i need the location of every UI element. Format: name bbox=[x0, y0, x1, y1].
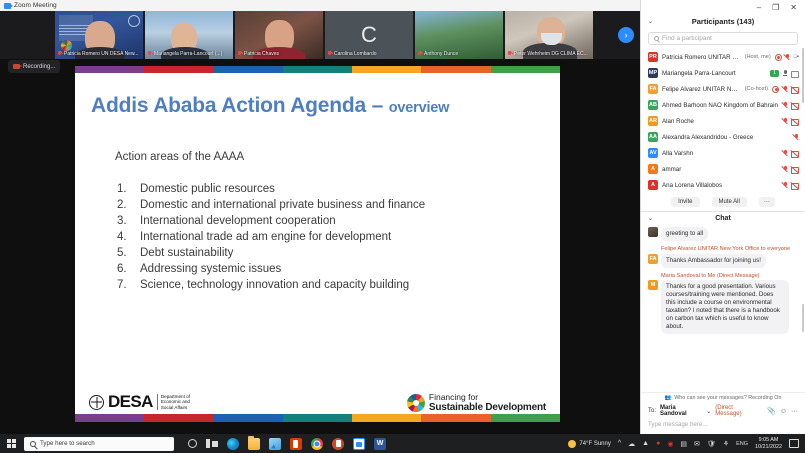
more-icon[interactable]: □▪ bbox=[794, 54, 799, 60]
participant-tag: (Co-host) bbox=[745, 86, 768, 92]
people-icon: 👥 bbox=[665, 395, 672, 401]
system-tray: 74°F Sunny ^ ☁ ▲ ● ◉ ▤ ✉ 🛡 ⚘ ENG 9:05 AM… bbox=[568, 437, 805, 450]
chevron-up-icon[interactable]: ^ bbox=[618, 440, 621, 447]
slide-title: Addis Ababa Action Agenda – overview bbox=[91, 94, 449, 118]
list-item-number: 1. bbox=[117, 181, 129, 197]
participant-name: Felipe Alvarez UNITAR New Y... bbox=[662, 86, 741, 93]
mic-muted-icon bbox=[237, 51, 242, 58]
chat-privacy-note: 👥 Who can see your messages? Recording O… bbox=[641, 392, 805, 403]
antivirus-icon[interactable]: ◉ bbox=[667, 440, 673, 448]
sun-icon bbox=[568, 440, 576, 448]
participant-icons[interactable] bbox=[782, 102, 799, 109]
word-icon[interactable]: W bbox=[374, 438, 386, 450]
camera-off-icon[interactable] bbox=[791, 182, 799, 188]
video-tile-namebar: Carolina Lombardo bbox=[325, 51, 413, 59]
task-view-icon[interactable] bbox=[206, 438, 218, 450]
financing-sustainable-development-logo: Financing for Sustainable Development bbox=[407, 393, 546, 412]
video-tile[interactable]: Patricia Romero UN DESA New... bbox=[55, 11, 143, 59]
avatar bbox=[648, 227, 658, 237]
chat-message: Maria Sandoval to Me (Direct Message) M … bbox=[648, 273, 798, 335]
participant-row[interactable]: MP Mariangela Parra-Lancourt 1 bbox=[641, 65, 805, 81]
avatar: M bbox=[648, 280, 658, 290]
participant-row[interactable]: PR Patricia Romero UNITAR Ne... (Host, m… bbox=[641, 49, 805, 65]
file-explorer-icon[interactable] bbox=[248, 438, 260, 450]
onedrive-icon[interactable]: ☁ bbox=[628, 440, 635, 448]
cortana-icon[interactable] bbox=[188, 439, 197, 448]
participant-name: Alexandra Alexandridou - Greece bbox=[662, 134, 789, 141]
avatar: AR bbox=[648, 116, 658, 126]
chat-message-text: greeting to all bbox=[661, 227, 708, 241]
powerpoint-icon[interactable] bbox=[332, 438, 344, 450]
list-item-number: 7. bbox=[117, 277, 129, 293]
slide-subtitle: Action areas of the AAAA bbox=[115, 151, 244, 163]
chat-messages[interactable]: greeting to all Felipe Alvarez UNITAR Ne… bbox=[641, 225, 805, 392]
mic-muted-icon bbox=[57, 51, 62, 58]
chevron-down-icon[interactable]: ⌄ bbox=[648, 215, 653, 222]
office-icon[interactable] bbox=[290, 438, 302, 450]
mic-off-icon[interactable] bbox=[785, 54, 791, 61]
more-options-button[interactable]: ··· bbox=[759, 197, 775, 207]
chevron-down-icon[interactable]: ⌄ bbox=[648, 18, 653, 25]
zoom-meeting-window: Zoom Meeting Patricia Romero UN DESA New… bbox=[0, 0, 640, 434]
list-item-number: 3. bbox=[117, 213, 129, 229]
recording-status-icon bbox=[775, 54, 782, 61]
video-tile-namebar: Patricia Chaves bbox=[235, 51, 323, 59]
video-tile[interactable]: Patricia Chaves bbox=[235, 11, 323, 59]
chat-message-text: Thanks Ambassador for joining us! bbox=[661, 254, 766, 268]
chat-message-line: FA Thanks Ambassador for joining us! bbox=[648, 254, 798, 268]
windows-taskbar: Type here to search W 74°F Sunny ^ ☁ ▲ ●… bbox=[0, 434, 805, 453]
participant-icons[interactable] bbox=[782, 150, 799, 157]
list-item-number: 2. bbox=[117, 197, 129, 213]
screen: Zoom Meeting Patricia Romero UN DESA New… bbox=[0, 0, 805, 453]
avatar: A bbox=[648, 164, 658, 174]
participant-name: Ana Lorena Villalobos bbox=[662, 182, 778, 189]
list-item-text: International trade ad am engine for dev… bbox=[140, 229, 391, 245]
camera-off-icon[interactable] bbox=[791, 118, 799, 124]
list-item: 7. Science, technology innovation and ca… bbox=[117, 277, 537, 293]
start-button[interactable] bbox=[0, 434, 22, 453]
video-tile-name: Mariangela Parra-Lancourt (...) bbox=[154, 51, 222, 58]
shield-icon[interactable]: 🛡 bbox=[707, 440, 716, 448]
zoom-window-title: Zoom Meeting bbox=[14, 2, 57, 9]
slide-top-color-bar bbox=[75, 66, 560, 73]
maximize-button[interactable]: ❐ bbox=[772, 3, 779, 12]
chrome-icon[interactable] bbox=[311, 438, 323, 450]
recording-status-icon bbox=[772, 86, 779, 93]
list-item-number: 6. bbox=[117, 261, 129, 277]
mic-muted-icon bbox=[327, 51, 332, 58]
chat-to-label: To: bbox=[648, 408, 656, 414]
avatar: MP bbox=[648, 68, 658, 78]
mic-on-icon[interactable] bbox=[782, 70, 788, 77]
mic-off-icon[interactable] bbox=[782, 118, 788, 125]
camera-off-icon[interactable] bbox=[791, 166, 799, 172]
list-item: 6. Addressing systemic issues bbox=[117, 261, 537, 277]
video-tile-namebar: Anthony Dunce bbox=[415, 51, 503, 59]
participant-icons[interactable] bbox=[782, 182, 799, 189]
file-attach-icon[interactable]: 📎 bbox=[767, 407, 776, 415]
list-item-text: Domestic public resources bbox=[140, 181, 275, 197]
list-item: 2. Domestic and international private bu… bbox=[117, 197, 537, 213]
participant-search-wrap: Find a participant bbox=[641, 29, 805, 49]
video-tile-name: Carolina Lombardo bbox=[334, 51, 377, 58]
clock-date: 10/21/2022 bbox=[755, 444, 782, 451]
mic-off-icon[interactable] bbox=[793, 134, 799, 141]
video-tile-namebar: Patricia Romero UN DESA New... bbox=[55, 51, 143, 59]
participants-chat-panel: – ❐ ✕ ⌄ Participants (143) Find a partic… bbox=[640, 0, 805, 434]
camera-off-icon[interactable] bbox=[791, 86, 799, 92]
list-item-text: International development cooperation bbox=[140, 213, 336, 229]
chat-message-meta: Maria Sandoval to Me (Direct Message) bbox=[661, 273, 798, 279]
minimize-button[interactable]: – bbox=[757, 3, 761, 12]
list-item-text: Addressing systemic issues bbox=[140, 261, 281, 277]
sdg-color-wheel-icon bbox=[407, 394, 425, 412]
participant-tag: (Host, me) bbox=[745, 54, 771, 60]
camera-icon[interactable] bbox=[791, 70, 799, 76]
chat-recipient-row: To: Maria Sandoval ⌄ (Direct Message) 📎 … bbox=[641, 403, 805, 419]
sdg-wheel-icon bbox=[61, 40, 72, 51]
zoom-titlebar: Zoom Meeting bbox=[0, 0, 640, 11]
video-tile-namebar: Mariangela Parra-Lancourt (...) bbox=[145, 51, 233, 59]
camera-off-icon[interactable] bbox=[791, 150, 799, 156]
printer-icon[interactable]: ▤ bbox=[680, 440, 687, 448]
taskbar-search-placeholder: Type here to search bbox=[40, 440, 95, 447]
participant-row[interactable]: FA Felipe Alvarez UNITAR New Y... (Co-ho… bbox=[641, 81, 805, 97]
list-item: 5. Debt sustainability bbox=[117, 245, 537, 261]
chat-scrollbar[interactable] bbox=[802, 304, 805, 332]
avatar: AB bbox=[648, 100, 658, 110]
taskbar-clock[interactable]: 9:05 AM 10/21/2022 bbox=[755, 437, 782, 450]
participant-name: Patricia Romero UNITAR Ne... bbox=[662, 54, 741, 61]
avatar: PR bbox=[648, 52, 658, 62]
recording-icon bbox=[13, 64, 20, 69]
desa-logo: DESA Department of Economic and Social A… bbox=[89, 392, 190, 412]
chat-message: Felipe Alvarez UNITAR New York Office to… bbox=[648, 246, 798, 268]
zoom-icon[interactable] bbox=[353, 438, 365, 450]
participants-list[interactable]: PR Patricia Romero UNITAR Ne... (Host, m… bbox=[641, 49, 805, 193]
participant-search-input[interactable]: Find a participant bbox=[648, 32, 798, 45]
search-placeholder: Find a participant bbox=[662, 35, 712, 42]
participants-actions: Invite Mute All ··· bbox=[641, 195, 805, 209]
participant-row[interactable]: AA Alexandra Alexandridou - Greece bbox=[641, 129, 805, 145]
slide-title-main: Addis Ababa Action Agenda – bbox=[91, 94, 389, 117]
chat-title: Chat bbox=[715, 215, 731, 222]
mic-muted-icon bbox=[507, 51, 512, 58]
photos-icon[interactable] bbox=[269, 438, 281, 450]
list-item-number: 5. bbox=[117, 245, 129, 261]
slide-action-areas-list: 1. Domestic public resources 2. Domestic… bbox=[117, 181, 537, 293]
list-item: 4. International trade ad am engine for … bbox=[117, 229, 537, 245]
participants-header: ⌄ Participants (143) bbox=[641, 14, 805, 29]
chat-privacy-text: Who can see your messages? Recording On bbox=[674, 395, 781, 401]
zoom-app-icon bbox=[4, 3, 11, 9]
desa-dept-line3: Social Affairs bbox=[161, 405, 187, 410]
participant-icons[interactable] bbox=[782, 118, 799, 125]
slide-title-sub: overview bbox=[389, 100, 449, 116]
mic-muted-icon bbox=[417, 51, 422, 58]
chat-input-placeholder: Type message here... bbox=[648, 421, 708, 428]
search-icon bbox=[654, 36, 659, 41]
video-tile-name: Patricia Romero UN DESA New... bbox=[64, 51, 138, 58]
chat-message-input[interactable]: Type message here... bbox=[641, 419, 805, 434]
participant-icons[interactable] bbox=[772, 86, 799, 93]
avatar: FA bbox=[648, 84, 658, 94]
desa-wordmark: DESA bbox=[108, 392, 153, 412]
participant-row[interactable]: A ammar bbox=[641, 161, 805, 177]
mic-off-icon[interactable] bbox=[782, 150, 788, 157]
video-tile[interactable]: C Carolina Lombardo bbox=[325, 11, 413, 59]
video-tile[interactable]: Anthony Dunce bbox=[415, 11, 503, 59]
clock-time: 9:05 AM bbox=[755, 437, 782, 444]
participant-icons[interactable]: □▪ bbox=[775, 54, 799, 61]
video-tile-name: Anthony Dunce bbox=[424, 51, 458, 58]
chat-recipient-select[interactable]: Maria Sandoval bbox=[660, 405, 702, 417]
video-tile[interactable]: Mariangela Parra-Lancourt (...) bbox=[145, 11, 233, 59]
mic-muted-icon bbox=[147, 51, 152, 58]
window-controls: – ❐ ✕ bbox=[641, 0, 805, 14]
notifications-icon[interactable] bbox=[789, 439, 799, 448]
participant-icons[interactable] bbox=[782, 166, 799, 173]
chat-header: ⌄ Chat bbox=[641, 211, 805, 225]
invite-button[interactable]: Invite bbox=[671, 197, 699, 207]
network-icon[interactable]: ▲ bbox=[642, 440, 649, 447]
chat-message-text: Thanks for a good presentation. Various … bbox=[661, 280, 789, 334]
mic-off-icon[interactable] bbox=[782, 102, 788, 109]
mute-all-button[interactable]: Mute All bbox=[712, 197, 747, 207]
slide-footer: DESA Department of Economic and Social A… bbox=[75, 378, 560, 414]
avatar: AA bbox=[648, 132, 658, 142]
video-filmstrip[interactable]: Patricia Romero UN DESA New... Mariangel… bbox=[0, 11, 640, 59]
list-item: 1. Domestic public resources bbox=[117, 181, 537, 197]
video-tile-namebar: Peter Wehrheim DG CLIMA EC... bbox=[505, 51, 593, 59]
list-item-text: Science, technology innovation and capac… bbox=[140, 277, 409, 293]
ffsd-text: Financing for Sustainable Development bbox=[429, 393, 546, 412]
un-globe-icon bbox=[89, 395, 104, 410]
recording-indicator[interactable]: Recording... bbox=[8, 60, 60, 73]
mic-off-icon[interactable] bbox=[782, 166, 788, 173]
slide-bottom-color-bar bbox=[75, 414, 560, 422]
recording-label: Recording... bbox=[23, 64, 55, 70]
participant-name: ammar bbox=[662, 166, 778, 173]
mic-off-icon[interactable] bbox=[782, 86, 788, 93]
chevron-down-icon[interactable]: ⌄ bbox=[706, 408, 711, 415]
chat-direct-message-label: (Direct Message) bbox=[715, 405, 759, 417]
camera-off-icon[interactable] bbox=[791, 102, 799, 108]
participant-icons[interactable]: 1 bbox=[770, 70, 799, 77]
count-badge: 1 bbox=[770, 70, 779, 77]
chat-message-line: greeting to all bbox=[648, 227, 798, 241]
desa-dept-line2: Economic and bbox=[161, 399, 190, 404]
weather-text: 74°F Sunny bbox=[579, 441, 610, 447]
chat-message-meta: Felipe Alvarez UNITAR New York Office to… bbox=[661, 246, 798, 252]
participant-row[interactable]: AV Alla Varshn bbox=[641, 145, 805, 161]
participant-name: Mariangela Parra-Lancourt bbox=[662, 70, 766, 77]
chat-message-line: M Thanks for a good presentation. Variou… bbox=[648, 280, 798, 334]
close-button[interactable]: ✕ bbox=[790, 3, 797, 12]
shared-slide: Addis Ababa Action Agenda – overview Act… bbox=[75, 66, 560, 422]
avatar: A bbox=[648, 180, 658, 190]
list-item-number: 4. bbox=[117, 229, 129, 245]
desa-department-text: Department of Economic and Social Affair… bbox=[157, 394, 190, 411]
bluetooth-icon[interactable]: ⚘ bbox=[723, 440, 729, 448]
weather-widget[interactable]: 74°F Sunny bbox=[568, 440, 610, 448]
video-tile[interactable]: Peter Wehrheim DG CLIMA EC... bbox=[505, 11, 593, 59]
mic-off-icon[interactable] bbox=[782, 182, 788, 189]
participant-name: Alla Varshn bbox=[662, 150, 778, 157]
more-icon[interactable]: ··· bbox=[791, 408, 798, 415]
edge-icon[interactable] bbox=[227, 438, 239, 450]
participant-row[interactable]: A Ana Lorena Villalobos bbox=[641, 177, 805, 193]
participants-title: Participants (143) bbox=[692, 17, 755, 26]
desa-dept-line1: Department of bbox=[161, 394, 190, 399]
participant-name: Ahmed Barhoon NAO Kingdom of Bahrain bbox=[662, 102, 778, 109]
participant-name: Alan Roche bbox=[662, 118, 778, 125]
ffsd-line2: Sustainable Development bbox=[429, 403, 546, 413]
taskbar-icons: W bbox=[188, 438, 386, 450]
filmstrip-next-icon[interactable]: › bbox=[618, 27, 634, 43]
input-language-indicator[interactable]: ENG bbox=[736, 441, 748, 447]
search-icon bbox=[30, 441, 36, 447]
avatar: FA bbox=[648, 254, 658, 264]
participant-row[interactable]: AR Alan Roche bbox=[641, 113, 805, 129]
emoji-icon[interactable]: ☺ bbox=[780, 408, 787, 415]
list-item-text: Domestic and international private busin… bbox=[140, 197, 425, 213]
video-tile-name: Peter Wehrheim DG CLIMA EC... bbox=[514, 51, 588, 58]
mail-icon[interactable]: ✉ bbox=[694, 440, 700, 448]
un-emblem-icon bbox=[128, 15, 140, 27]
avatar: AV bbox=[648, 148, 658, 158]
taskbar-search-input[interactable]: Type here to search bbox=[24, 437, 174, 451]
list-item: 3. International development cooperation bbox=[117, 213, 537, 229]
participant-row[interactable]: AB Ahmed Barhoon NAO Kingdom of Bahrain bbox=[641, 97, 805, 113]
video-tile-name: Patricia Chaves bbox=[244, 51, 279, 58]
windows-logo-icon bbox=[7, 439, 16, 448]
participants-scrollbar[interactable] bbox=[802, 48, 805, 103]
adobe-icon[interactable]: ● bbox=[656, 440, 660, 447]
list-item-text: Debt sustainability bbox=[140, 245, 233, 261]
participant-icons[interactable] bbox=[793, 134, 799, 141]
chat-message: greeting to all bbox=[648, 227, 798, 241]
